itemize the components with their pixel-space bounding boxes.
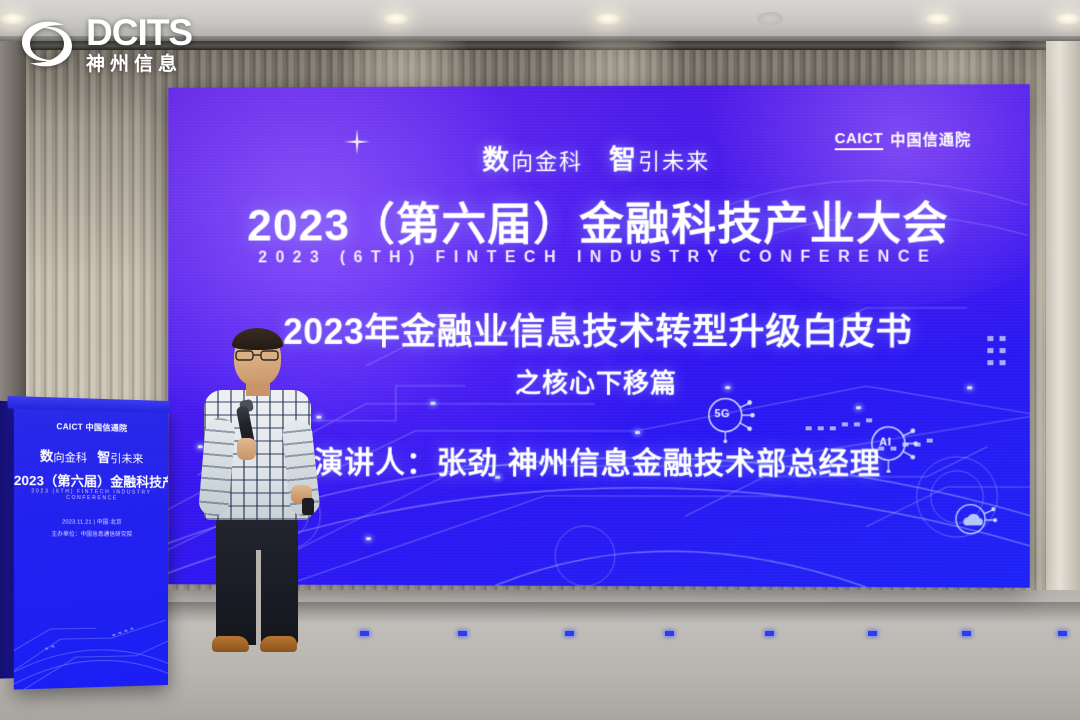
dcits-watermark: DCITS 神州信息 (18, 14, 192, 74)
podium-host-org: 主办单位：中国信息通信研究院 (14, 529, 168, 538)
floor-led-marker (868, 631, 877, 636)
presenter-shoe-left (212, 636, 249, 652)
tagline-part2-big: 智 (609, 145, 638, 175)
presenter-hair (232, 328, 283, 350)
tagline-part1-small: 向金科 (511, 149, 583, 174)
cloud-node-icon (947, 492, 1002, 546)
tech-badge-cloud (947, 492, 1002, 546)
tech-badge-5g-label: 5G (693, 408, 751, 420)
floor-led-marker (360, 631, 369, 636)
watermark-brand-en: DCITS (86, 14, 192, 51)
conference-title-en: 2023 (6TH) FINTECH INDUSTRY CONFERENCE (168, 248, 1030, 267)
downlight-icon (757, 12, 783, 25)
presenter-hand-left (237, 438, 256, 460)
wall-right (1046, 41, 1080, 641)
tagline-part2-small: 引未来 (638, 149, 710, 174)
downlight-icon (595, 12, 621, 25)
podium-tagline: 数向金科智引未来 (14, 445, 168, 467)
tech-badge-5g: 5G (700, 386, 758, 444)
podium-partner-logo: CAICT 中国信通院 (14, 420, 168, 435)
floor-led-marker (765, 631, 774, 636)
floor-led-marker (962, 631, 971, 636)
presenter-leg-gap (256, 550, 261, 646)
podium-tagline-small1: 向金科 (53, 452, 87, 465)
presenter-shoe-right (260, 636, 297, 652)
downlight-icon (925, 12, 951, 25)
floor-led-marker (1058, 631, 1067, 636)
floor-led-marker (565, 631, 574, 636)
podium-front-panel: CAICT 中国信通院 数向金科智引未来 2023（第六届）金融科技产业大会 2… (14, 405, 168, 689)
podium-circuit-art (14, 575, 168, 690)
eyeglasses-icon (235, 350, 280, 361)
conference-title: 2023（第六届）金融科技产业大会 (168, 187, 1030, 254)
podium-tagline-big2: 智 (97, 450, 110, 465)
presenter-person (196, 330, 318, 660)
floor-led-marker (665, 631, 674, 636)
presenter-remote-icon (302, 498, 314, 515)
downlight-icon (383, 12, 409, 25)
podium-lectern: CAICT 中国信通院 数向金科智引未来 2023（第六届）金融科技产业大会 2… (14, 405, 168, 689)
watermark-brand-cn: 神州信息 (86, 55, 192, 74)
tagline-part1-big: 数 (482, 145, 511, 175)
swoosh-icon (18, 18, 76, 70)
downlight-icon (1055, 12, 1080, 25)
podium-tagline-big1: 数 (40, 448, 53, 464)
conference-tagline: 数向金科智引未来 (168, 137, 1030, 179)
podium-conference-title-en: 2023 (6TH) FINTECH INDUSTRY CONFERENCE (14, 488, 168, 502)
podium-tagline-small2: 引未来 (110, 453, 143, 466)
floor-led-marker (458, 631, 467, 636)
podium-date-location: 2023.11.21 | 中国·北京 (14, 517, 168, 526)
